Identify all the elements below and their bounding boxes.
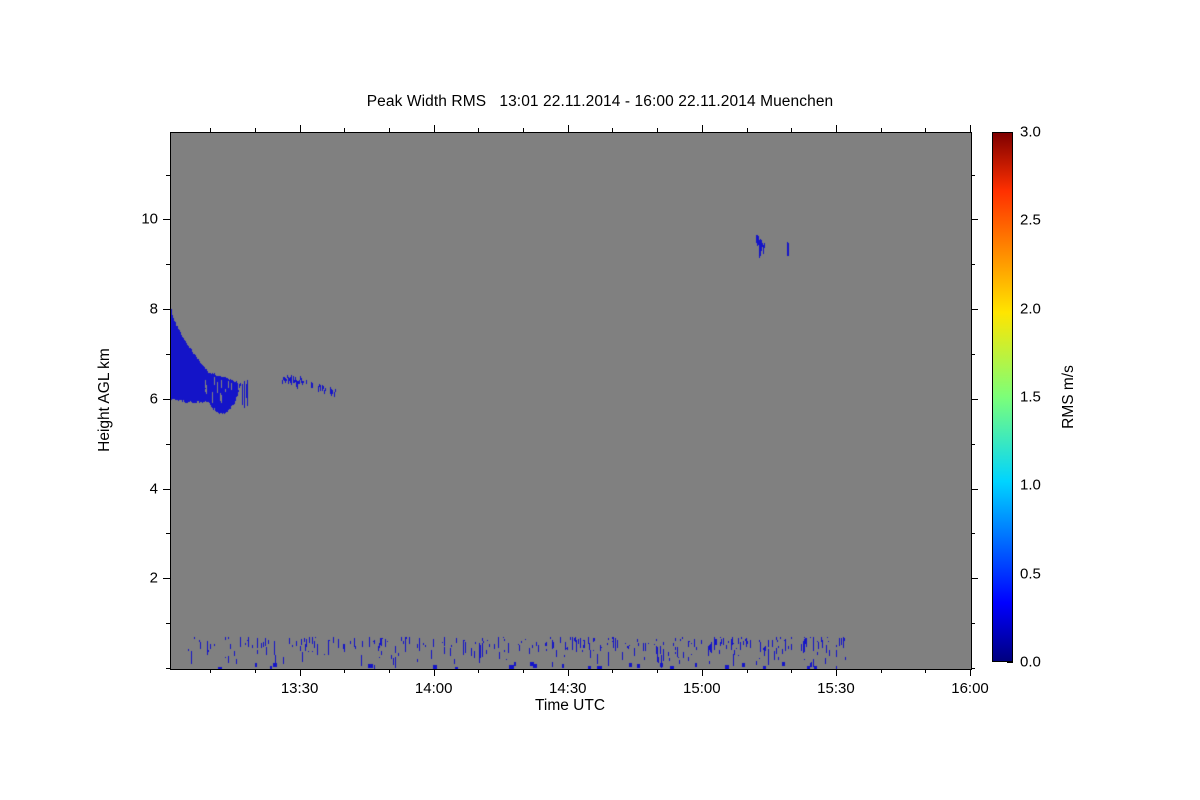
x-axis-minor-tick (210, 669, 211, 673)
y-axis-minor-tick (166, 533, 170, 534)
y-axis-minor-tick (166, 175, 170, 176)
y-axis-tick-right (971, 533, 975, 534)
x-axis-major-tick (970, 669, 971, 676)
colorbar (992, 132, 1013, 662)
colorbar-tick-label: 2.5 (1020, 212, 1041, 229)
x-axis-minor-tick (612, 669, 613, 673)
colorbar-tick-label: 0.0 (1020, 654, 1041, 671)
x-axis-minor-tick (791, 669, 792, 673)
x-axis-tick-top (523, 128, 524, 132)
colorbar-gradient (992, 132, 1013, 662)
x-axis-tick-label: 13:30 (281, 680, 319, 697)
x-axis-minor-tick (478, 669, 479, 673)
x-axis-minor-tick (657, 669, 658, 673)
colorbar-tick-label: 0.5 (1020, 565, 1041, 582)
y-axis-tick-right (971, 264, 975, 265)
y-axis-tick-right (971, 175, 975, 176)
x-axis-minor-tick (925, 669, 926, 673)
x-axis-major-tick (300, 669, 301, 676)
x-axis-tick-top (881, 128, 882, 132)
y-axis-minor-tick (166, 444, 170, 445)
y-axis-minor-tick (166, 264, 170, 265)
y-axis-tick-right (971, 219, 978, 220)
x-axis-tick-label: 15:30 (817, 680, 855, 697)
y-axis-tick-label: 4 (132, 480, 158, 497)
x-axis-tick-top (255, 128, 256, 132)
x-axis-tick-label: 16:00 (951, 680, 989, 697)
x-axis-tick-top (210, 128, 211, 132)
x-axis-minor-tick (523, 669, 524, 673)
y-axis-tick-right (971, 623, 975, 624)
x-axis-tick-label: 14:30 (549, 680, 587, 697)
x-axis-tick-top (970, 125, 971, 132)
y-axis-tick-right (971, 444, 975, 445)
y-axis-minor-tick (166, 668, 170, 669)
x-axis-tick-top (478, 128, 479, 132)
x-axis-tick-top (344, 128, 345, 132)
y-axis-tick-label: 2 (132, 570, 158, 587)
x-axis-major-tick (836, 669, 837, 676)
x-axis-tick-top (568, 125, 569, 132)
x-axis-tick-top (702, 125, 703, 132)
y-axis-major-tick (163, 399, 170, 400)
x-axis-minor-tick (747, 669, 748, 673)
y-axis-tick-right (971, 309, 978, 310)
x-axis-major-tick (434, 669, 435, 676)
x-axis-tick-top (925, 128, 926, 132)
y-axis-major-tick (163, 578, 170, 579)
y-axis-tick-right (971, 578, 978, 579)
x-axis-tick-label: 14:00 (415, 680, 453, 697)
colorbar-label: RMS m/s (1060, 365, 1078, 429)
y-axis-tick-right (971, 489, 978, 490)
x-axis-tick-top (434, 125, 435, 132)
y-axis-tick-right (971, 354, 975, 355)
x-axis-minor-tick (255, 669, 256, 673)
x-axis-major-tick (702, 669, 703, 676)
x-axis-tick-top (389, 128, 390, 132)
x-axis-tick-label: 15:00 (683, 680, 721, 697)
x-axis-tick-top (612, 128, 613, 132)
y-axis-tick-label: 10 (132, 211, 158, 228)
x-axis-tick-top (791, 128, 792, 132)
x-axis-tick-top (836, 125, 837, 132)
y-axis-minor-tick (166, 354, 170, 355)
y-axis-major-tick (163, 489, 170, 490)
x-axis-minor-tick (389, 669, 390, 673)
heatmap-data-layer (171, 133, 971, 669)
y-axis-major-tick (163, 219, 170, 220)
x-axis-tick-top (657, 128, 658, 132)
x-axis-major-tick (568, 669, 569, 676)
x-axis-minor-tick (344, 669, 345, 673)
x-axis-tick-top (747, 128, 748, 132)
y-axis-minor-tick (166, 623, 170, 624)
colorbar-tick-label: 1.5 (1020, 389, 1041, 406)
y-axis-tick-right (971, 668, 975, 669)
x-axis-minor-tick (881, 669, 882, 673)
colorbar-major-tick (1007, 662, 1013, 663)
y-axis-tick-label: 6 (132, 390, 158, 407)
x-axis-label: Time UTC (170, 697, 970, 715)
y-axis-label: Height AGL km (96, 348, 114, 452)
y-axis-tick-right (971, 399, 978, 400)
colorbar-tick-label: 3.0 (1020, 124, 1041, 141)
page-title: Peak Width RMS 13:01 22.11.2014 - 16:00 … (0, 93, 1200, 111)
colorbar-tick-label: 1.0 (1020, 477, 1041, 494)
x-axis-tick-top (300, 125, 301, 132)
figure-canvas: Peak Width RMS 13:01 22.11.2014 - 16:00 … (0, 0, 1200, 800)
plot-area (170, 132, 972, 670)
colorbar-tick-label: 2.0 (1020, 300, 1041, 317)
y-axis-major-tick (163, 309, 170, 310)
y-axis-tick-label: 8 (132, 301, 158, 318)
